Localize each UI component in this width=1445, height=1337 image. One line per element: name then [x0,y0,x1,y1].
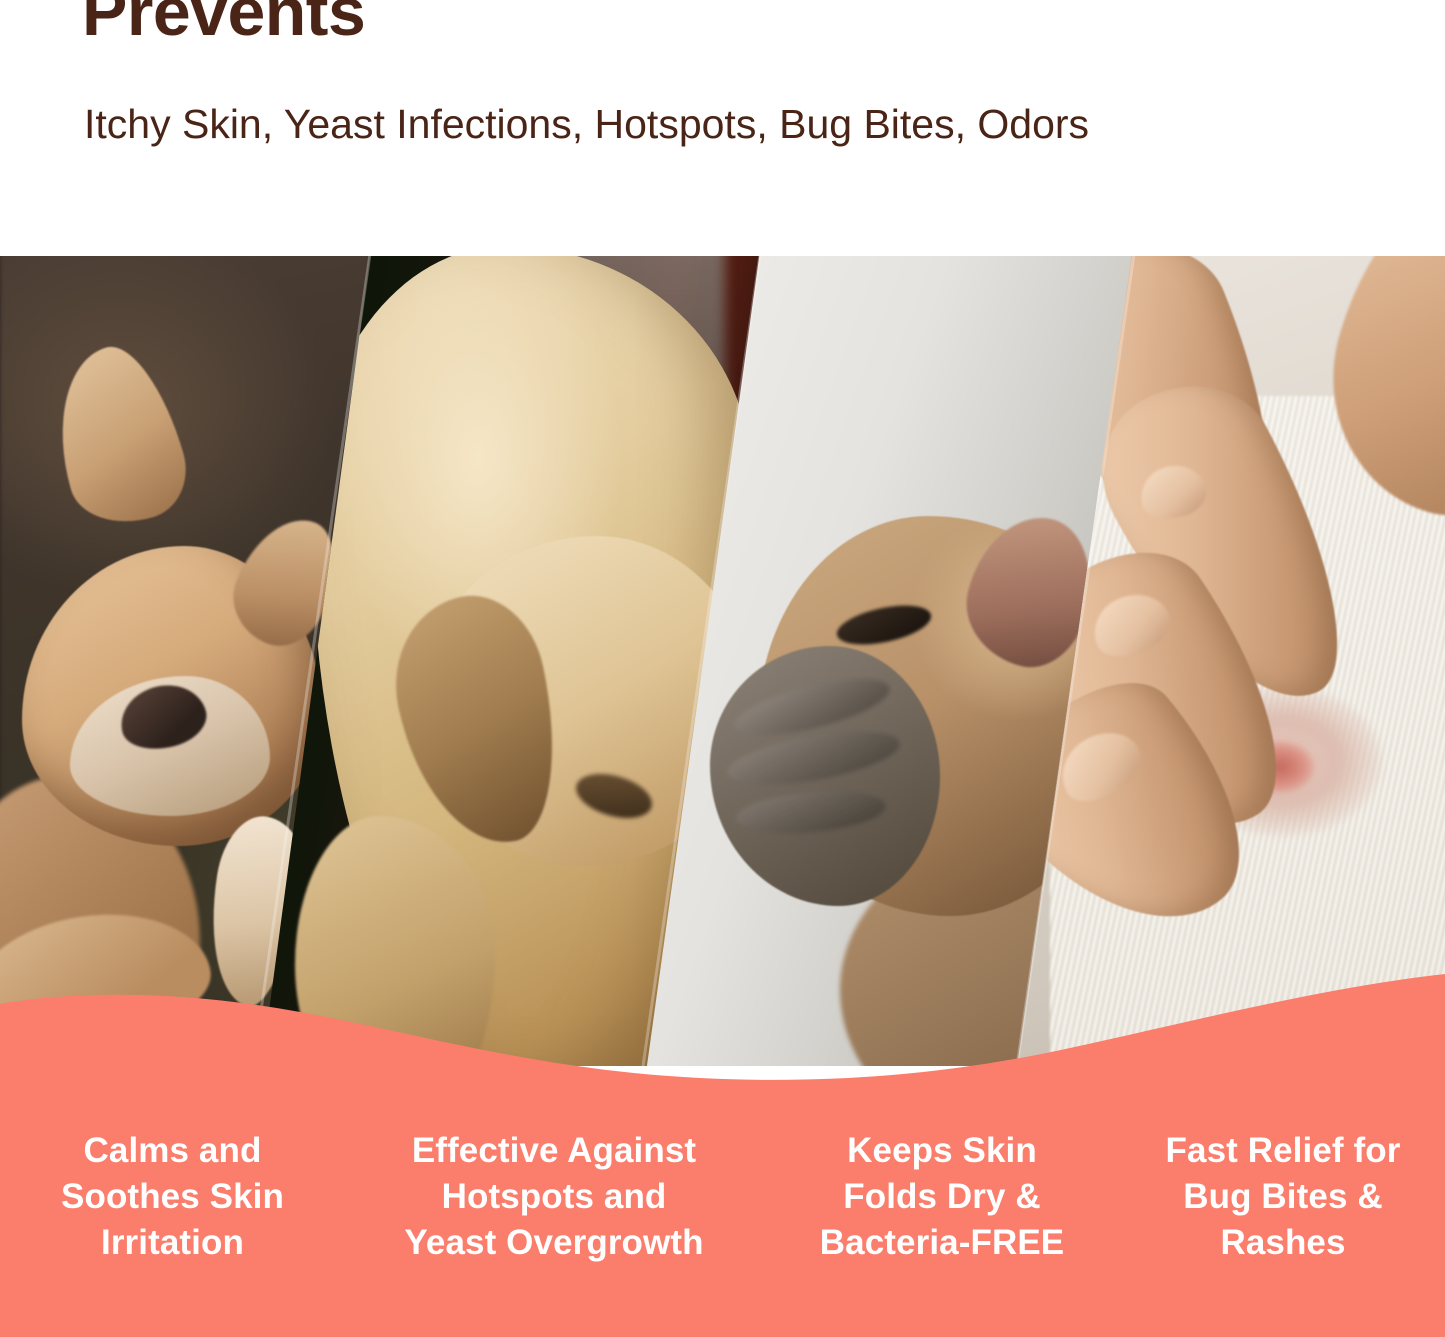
benefit-item-4: Fast Relief for Bug Bites & Rashes [1121,1128,1445,1267]
benefit-item-1: Calms and Soothes Skin Irritation [0,1128,345,1267]
photo-strip [0,256,1445,1066]
benefits-row: Calms and Soothes Skin Irritation Effect… [0,1128,1445,1267]
benefit-4-line-3: Rashes [1121,1220,1445,1266]
header-section: Prevents Itchy Skin, Yeast Infections, H… [0,0,1445,256]
benefit-2-line-1: Effective Against [345,1128,763,1174]
benefit-3-line-3: Bacteria-FREE [763,1220,1121,1266]
benefit-1-line-1: Calms and [0,1128,345,1174]
product-infographic: Prevents Itchy Skin, Yeast Infections, H… [0,0,1445,1337]
page-title: Prevents [82,0,365,46]
benefit-2-line-3: Yeast Overgrowth [345,1220,763,1266]
benefit-1-line-2: Soothes Skin [0,1174,345,1220]
benefit-1-line-3: Irritation [0,1220,345,1266]
benefit-3-line-1: Keeps Skin [763,1128,1121,1174]
benefit-4-line-2: Bug Bites & [1121,1174,1445,1220]
benefit-3-line-2: Folds Dry & [763,1174,1121,1220]
benefit-4-line-1: Fast Relief for [1121,1128,1445,1174]
header-subtitle: Itchy Skin, Yeast Infections, Hotspots, … [84,100,1089,149]
benefits-footer: Calms and Soothes Skin Irritation Effect… [0,960,1445,1337]
benefit-item-2: Effective Against Hotspots and Yeast Ove… [345,1128,763,1267]
benefit-item-3: Keeps Skin Folds Dry & Bacteria-FREE [763,1128,1121,1267]
benefit-2-line-2: Hotspots and [345,1174,763,1220]
